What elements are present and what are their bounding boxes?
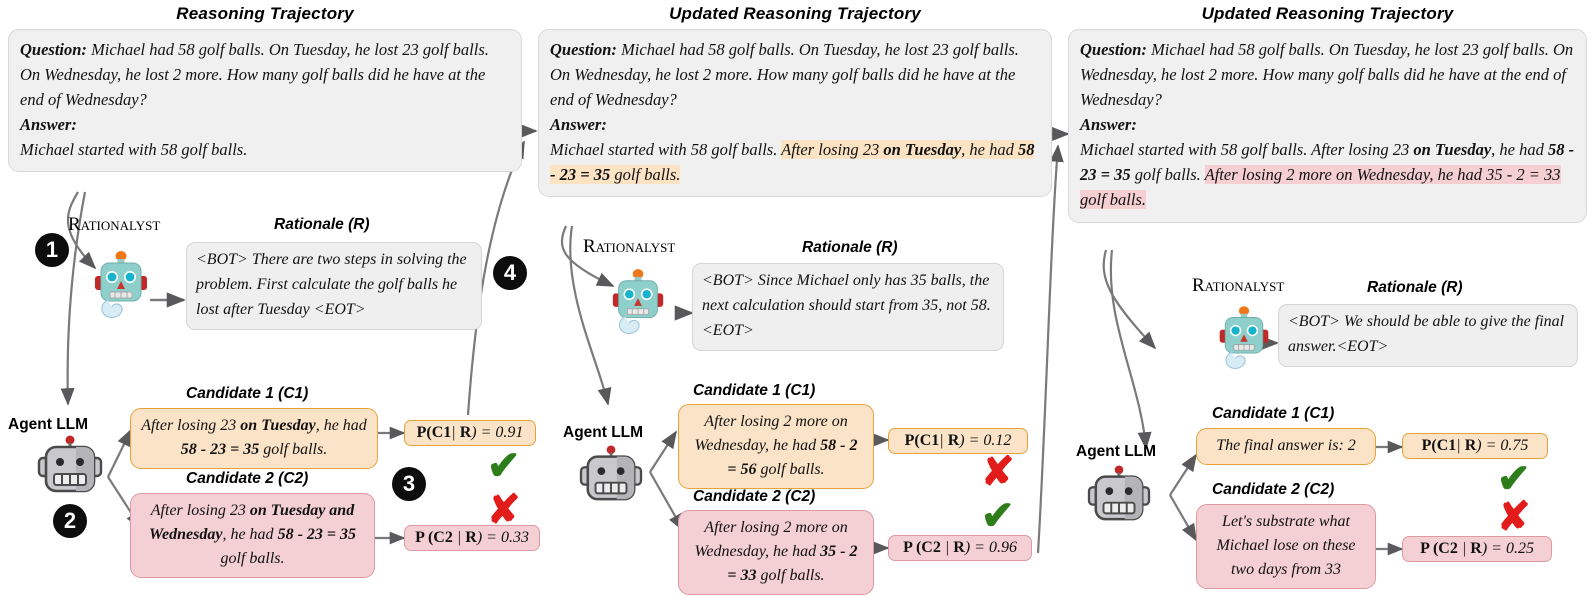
rationale-label: Rationale (R) xyxy=(274,216,370,234)
rationalyst-label: Rationalyst xyxy=(1192,275,1284,297)
agent-llm-robot-icon xyxy=(1086,464,1152,524)
candidate-2-prob-box: P (C2 | R) = 0.96 xyxy=(888,535,1032,561)
step-badge-1: 1 xyxy=(35,233,69,267)
rationalyst-robot-icon xyxy=(1215,305,1273,373)
panel-updated-reasoning-trajectory-2: Updated Reasoning Trajectory Question: M… xyxy=(1060,0,1595,603)
rationalyst-label: Rationalyst xyxy=(68,214,160,236)
agent-llm-robot-icon xyxy=(36,434,104,496)
candidate-2-label: Candidate 2 (C2) xyxy=(186,470,308,488)
panel-title: Reasoning Trajectory xyxy=(0,4,530,24)
candidate-2-prob-box: P (C2 | R) = 0.25 xyxy=(1402,536,1552,562)
step-badge-2: 2 xyxy=(53,504,87,538)
panel-title: Updated Reasoning Trajectory xyxy=(1060,4,1595,24)
candidate-1-label: Candidate 1 (C1) xyxy=(186,385,308,403)
rationale-box: <BOT> We should be able to give the fina… xyxy=(1278,304,1578,367)
candidate-2-cross-icon: ✘ xyxy=(487,490,521,530)
answer-text: Michael started with 58 golf balls. xyxy=(20,140,247,159)
step-badge-3: 3 xyxy=(392,467,426,501)
agent-llm-label: Agent LLM xyxy=(1076,443,1156,461)
candidate-1-check-icon: ✔ xyxy=(487,446,521,486)
candidate-1-cross-icon: ✘ xyxy=(981,452,1015,492)
rationalyst-label: Rationalyst xyxy=(583,236,675,258)
rationale-label: Rationale (R) xyxy=(802,239,898,257)
answer-label: Answer: xyxy=(550,115,607,134)
answer-text: Michael started with 58 golf balls. xyxy=(550,140,781,159)
candidate-1-prob-box: P(C1| R) = 0.75 xyxy=(1402,433,1548,459)
rationalyst-robot-icon xyxy=(90,250,152,322)
question-label: Question: xyxy=(20,40,87,59)
panel-title: Updated Reasoning Trajectory xyxy=(530,4,1060,24)
candidate-1-box: After losing 2 more on Wednesday, he had… xyxy=(678,404,874,489)
question-label: Question: xyxy=(550,40,617,59)
panel-updated-reasoning-trajectory-1: Updated Reasoning Trajectory Question: M… xyxy=(530,0,1060,603)
trajectory-box: Question: Michael had 58 golf balls. On … xyxy=(1068,29,1587,223)
question-text: Michael had 58 golf balls. On Tuesday, h… xyxy=(20,40,489,109)
candidate-2-label: Candidate 2 (C2) xyxy=(1212,481,1334,499)
question-text: Michael had 58 golf balls. On Tuesday, h… xyxy=(550,40,1019,109)
agent-llm-label: Agent LLM xyxy=(8,416,88,434)
candidate-1-box: The final answer is: 2 xyxy=(1196,428,1376,465)
question-text: Michael had 58 golf balls. On Tuesday, h… xyxy=(1080,40,1573,109)
step-badge-4: 4 xyxy=(493,256,527,290)
candidate-2-box: Let's substrate what Michael lose on the… xyxy=(1196,504,1376,589)
question-label: Question: xyxy=(1080,40,1147,59)
candidate-2-label: Candidate 2 (C2) xyxy=(693,488,815,506)
candidate-1-label: Candidate 1 (C1) xyxy=(693,382,815,400)
trajectory-box: Question: Michael had 58 golf balls. On … xyxy=(538,29,1052,197)
candidate-1-label: Candidate 1 (C1) xyxy=(1212,405,1334,423)
rationale-label: Rationale (R) xyxy=(1367,279,1463,297)
answer-label: Answer: xyxy=(20,115,77,134)
candidate-2-check-icon: ✔ xyxy=(981,496,1015,536)
answer-label: Answer: xyxy=(1080,115,1137,134)
agent-llm-label: Agent LLM xyxy=(563,424,643,442)
candidate-2-box: After losing 2 more on Wednesday, he had… xyxy=(678,510,874,595)
candidate-2-cross-icon: ✘ xyxy=(1497,497,1531,537)
candidate-2-prob-box: P (C2 | R) = 0.33 xyxy=(404,525,540,551)
candidate-1-prob-box: P(C1| R) = 0.91 xyxy=(404,420,536,446)
agent-llm-robot-icon xyxy=(578,444,644,504)
rationale-box: <BOT> Since Michael only has 35 balls, t… xyxy=(692,263,1004,351)
trajectory-box: Question: Michael had 58 golf balls. On … xyxy=(8,29,522,172)
rationalyst-robot-icon xyxy=(608,268,668,338)
panel-reasoning-trajectory: Reasoning Trajectory Question: Michael h… xyxy=(0,0,530,603)
candidate-2-box: After losing 23 on Tuesday and Wednesday… xyxy=(130,493,375,578)
candidate-1-box: After losing 23 on Tuesday, he had 58 - … xyxy=(130,408,378,469)
candidate-1-prob-box: P(C1| R) = 0.12 xyxy=(888,428,1028,454)
rationale-box: <BOT> There are two steps in solving the… xyxy=(186,242,482,330)
candidate-1-check-icon: ✔ xyxy=(1497,459,1531,499)
